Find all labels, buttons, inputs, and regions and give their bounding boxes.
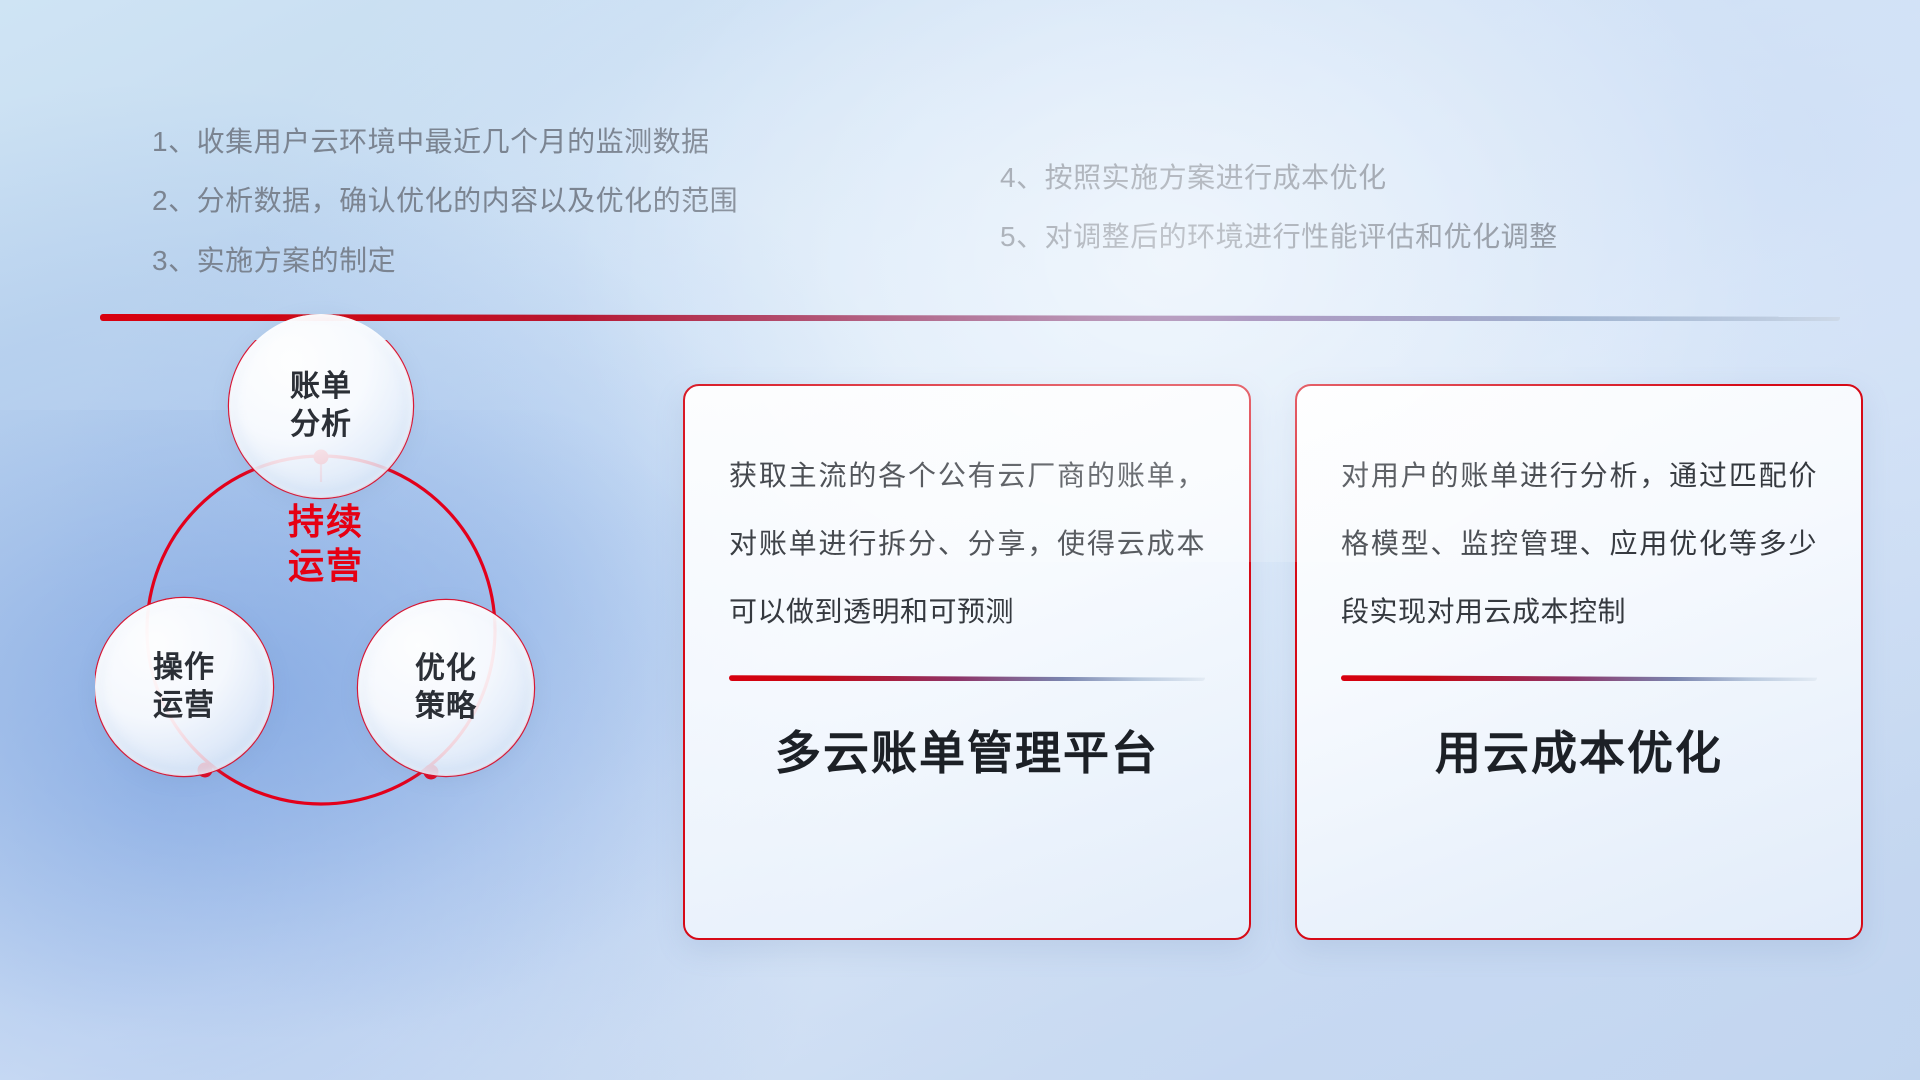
venn-bubble-bill-analysis[interactable]: 账单 分析: [229, 314, 413, 498]
steps-list-left: 1、收集用户云环境中最近几个月的监测数据 2、分析数据，确认优化的内容以及优化的…: [152, 120, 738, 282]
venn-bubble-operations[interactable]: 操作 运营: [95, 598, 273, 776]
slide-canvas: 1、收集用户云环境中最近几个月的监测数据 2、分析数据，确认优化的内容以及优化的…: [0, 0, 1920, 1080]
step-item-5: 5、对调整后的环境进行性能评估和优化调整: [1000, 215, 1558, 258]
step-item-4: 4、按照实施方案进行成本优化: [1000, 156, 1558, 199]
feature-card-multicloud-billing-divider: [729, 675, 1205, 681]
feature-card-cloud-cost-optimization[interactable]: 对用户的账单进行分析，通过匹配价格模型、监控管理、应用优化等多少段实现对用云成本…: [1295, 384, 1863, 940]
step-item-1: 1、收集用户云环境中最近几个月的监测数据: [152, 120, 738, 163]
venn-bubble-operations-line2: 运营: [153, 687, 215, 725]
feature-card-cloud-cost-optimization-body: 对用户的账单进行分析，通过匹配价格模型、监控管理、应用优化等多少段实现对用云成本…: [1341, 442, 1817, 645]
venn-center-label-line1: 持续: [251, 500, 401, 544]
venn-bubble-optimization-strategy-line2: 策略: [415, 688, 477, 726]
header-divider-rule: [100, 314, 1840, 321]
step-item-3: 3、实施方案的制定: [152, 239, 738, 282]
venn-center-label: 持续 运营: [251, 500, 401, 588]
continuous-operation-venn-diagram: 账单 分析 操作 运营 优化 策略 持续 运营: [95, 340, 655, 940]
venn-bubble-bill-analysis-line2: 分析: [290, 406, 352, 444]
step-item-2: 2、分析数据，确认优化的内容以及优化的范围: [152, 179, 738, 222]
feature-card-multicloud-billing[interactable]: 获取主流的各个公有云厂商的账单，对账单进行拆分、分享，使得云成本可以做到透明和可…: [683, 384, 1251, 940]
venn-bubble-bill-analysis-line1: 账单: [290, 368, 352, 406]
feature-card-multicloud-billing-title: 多云账单管理平台: [729, 717, 1205, 783]
feature-card-multicloud-billing-body: 获取主流的各个公有云厂商的账单，对账单进行拆分、分享，使得云成本可以做到透明和可…: [729, 442, 1205, 645]
steps-list-right: 4、按照实施方案进行成本优化 5、对调整后的环境进行性能评估和优化调整: [1000, 156, 1558, 259]
feature-card-cloud-cost-optimization-title: 用云成本优化: [1341, 717, 1817, 783]
feature-card-cloud-cost-optimization-divider: [1341, 675, 1817, 681]
venn-bubble-optimization-strategy[interactable]: 优化 策略: [358, 600, 534, 776]
venn-bubble-operations-line1: 操作: [153, 649, 215, 687]
venn-bubble-optimization-strategy-line1: 优化: [415, 650, 477, 688]
venn-center-label-line2: 运营: [251, 544, 401, 588]
